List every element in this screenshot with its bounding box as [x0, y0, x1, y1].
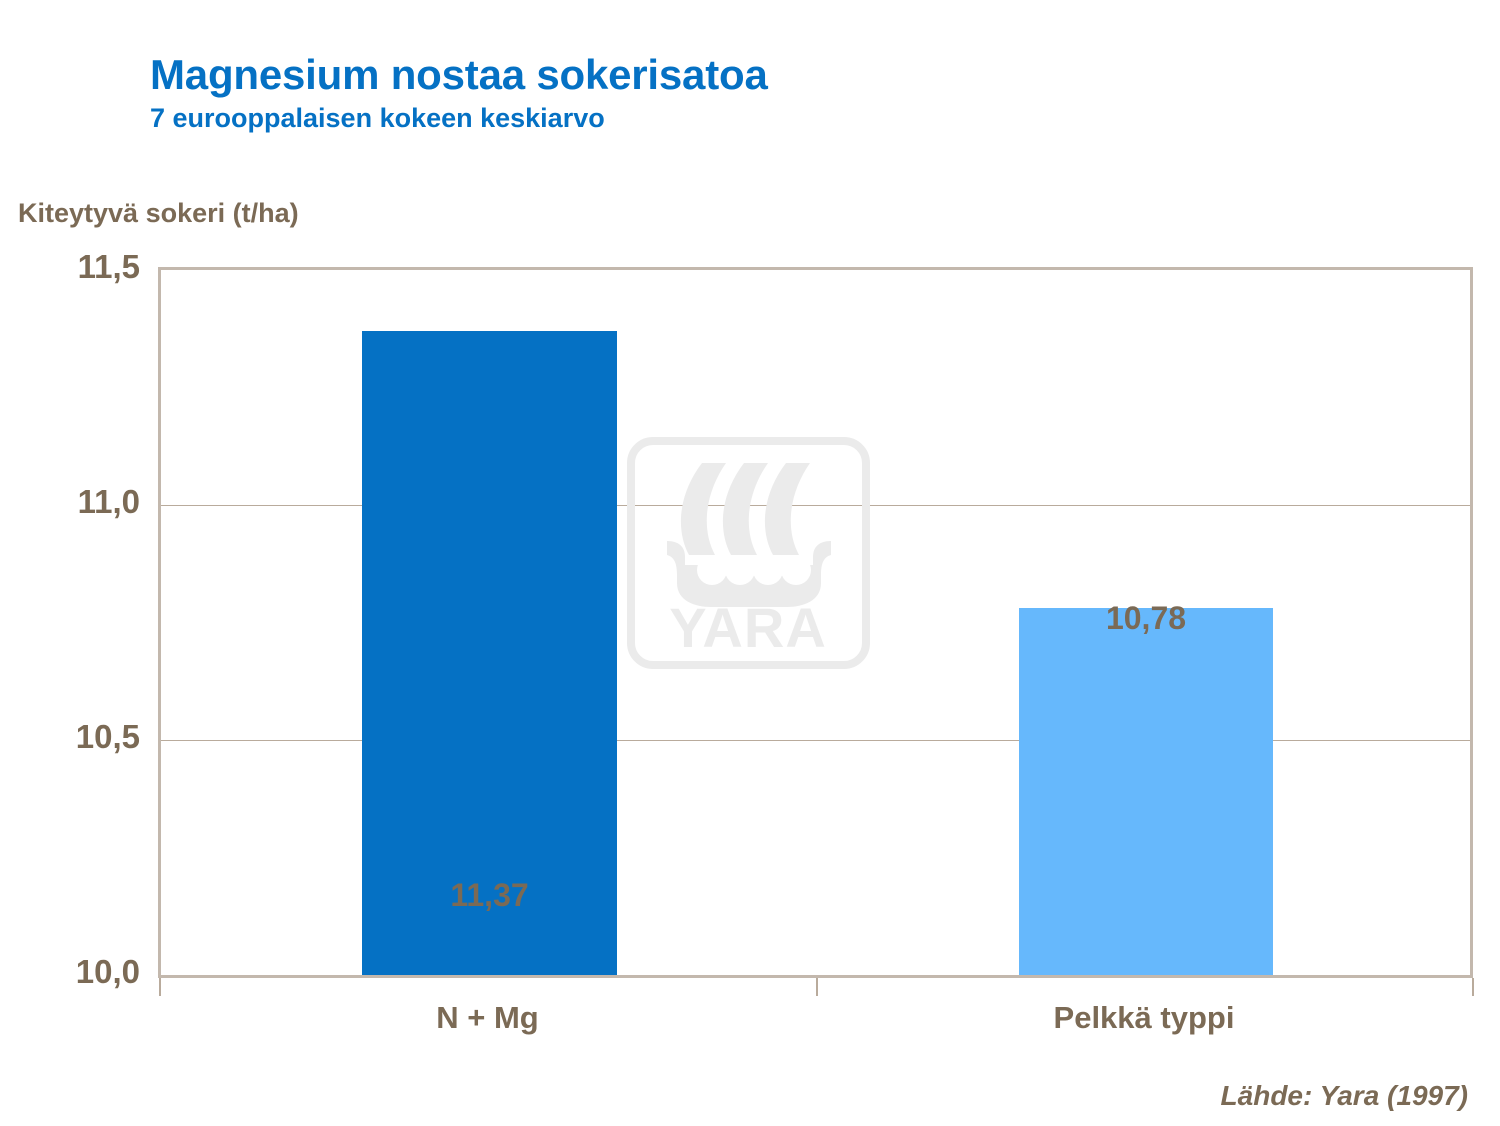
category-label-pelkka-typpi: Pelkkä typpi [1016, 1000, 1272, 1036]
page-subtitle: 7 eurooppalaisen kokeen keskiarvo [150, 103, 768, 134]
title-block: Magnesium nostaa sokerisatoa 7 eurooppal… [150, 52, 768, 134]
y-tick-label: 10,5 [5, 718, 140, 756]
y-axis-tick-labels: 11,5 11,0 10,5 10,0 [0, 267, 140, 978]
page-title: Magnesium nostaa sokerisatoa [150, 52, 768, 97]
gridline-11-0 [161, 505, 1470, 506]
category-tick [816, 978, 818, 996]
plot-area: 11,37 10,78 [158, 267, 1473, 978]
category-tick [159, 978, 161, 996]
y-tick-label: 11,0 [5, 483, 140, 521]
bar-value-label: 10,78 [1019, 600, 1273, 637]
y-tick-label: 11,5 [5, 248, 140, 286]
category-tick [1472, 978, 1474, 996]
bar-pelkka-typpi[interactable] [1019, 608, 1273, 975]
gridline-10-5 [161, 740, 1470, 741]
category-label-n-plus-mg: N + Mg [359, 1000, 616, 1036]
y-axis-title: Kiteytyvä sokeri (t/ha) [18, 198, 299, 229]
y-tick-label: 10,0 [5, 953, 140, 991]
bar-value-label: 11,37 [362, 877, 617, 914]
source-note: Lähde: Yara (1997) [1221, 1080, 1468, 1112]
